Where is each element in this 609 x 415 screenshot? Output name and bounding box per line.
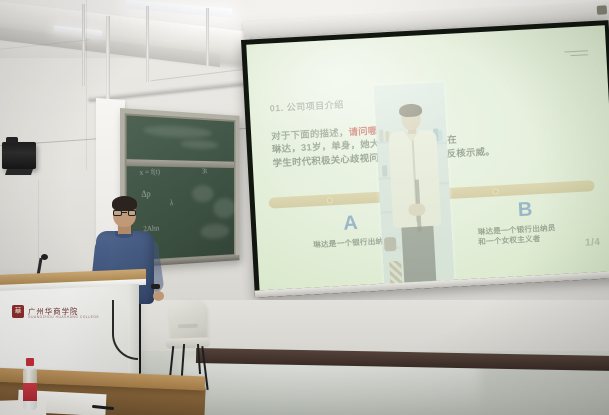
- wall-speaker-icon: [2, 142, 36, 169]
- projection-screen-surface: 01. 公司项目介绍 对于下面的描述，请问哪个可能性更大? 琳达，31岁，单身，…: [246, 25, 609, 290]
- slide-title: 01. 公司项目介绍: [269, 98, 344, 115]
- university-crest-icon: 華: [12, 305, 24, 318]
- chalk-smudge: [192, 185, 213, 202]
- chalk-smudge: [180, 140, 218, 150]
- ceiling-hanger-rod: [146, 6, 149, 82]
- presenter-glasses-icon: [113, 210, 136, 216]
- ceiling-hanger-rod: [206, 8, 209, 66]
- slide-decoration-lines-icon: [564, 50, 589, 61]
- presenter-hair: [112, 196, 137, 211]
- ceiling-hanger-rod: [82, 4, 85, 86]
- chalk-writing: λ: [170, 199, 173, 208]
- bottle-cap: [26, 358, 34, 366]
- presenter-video-overlay: [374, 82, 455, 290]
- bottle-label: [23, 383, 37, 401]
- presenter-right-hand: [153, 291, 164, 301]
- projection-screen: 01. 公司项目介绍 对于下面的描述，请问哪个可能性更大? 琳达，31岁，单身，…: [241, 20, 609, 298]
- chalk-writing: x = f(t): [139, 167, 160, 177]
- slide-page-indicator: 1/4: [585, 237, 601, 249]
- slide-option-b: B 琳达是一个银行出纳员 和一个女权主义者: [460, 196, 592, 248]
- divider-knob-left: [327, 197, 333, 203]
- chalk-smudge: [143, 124, 212, 139]
- slide: 01. 公司项目介绍 对于下面的描述，请问哪个可能性更大? 琳达，31岁，单身，…: [246, 25, 609, 290]
- podium-microphone-icon: [41, 254, 48, 260]
- classroom-scene: x = f(t) 3t Δp λ 2Ahn 01. 公司项目介绍 对于下面的描述…: [0, 0, 609, 415]
- water-bottle: [22, 358, 38, 410]
- chalk-writing: 3t: [202, 166, 208, 175]
- wall-seam: [86, 0, 87, 170]
- overlay-projection-wash: [374, 82, 455, 290]
- presenter-wristwatch-icon: [151, 284, 160, 289]
- option-b-letter: B: [460, 196, 591, 223]
- wall-speaker-bracket: [5, 169, 33, 175]
- university-name-en: GUANGZHOU HUASHANG COLLEGE: [28, 315, 99, 319]
- plastic-chair-back-slot: [178, 324, 198, 329]
- chalk-smudge: [213, 198, 235, 219]
- chalkboard-divider: [127, 159, 234, 168]
- divider-knob-right: [492, 188, 498, 194]
- screen-case-end-cap: [597, 5, 607, 15]
- chalk-smudge: [200, 224, 229, 240]
